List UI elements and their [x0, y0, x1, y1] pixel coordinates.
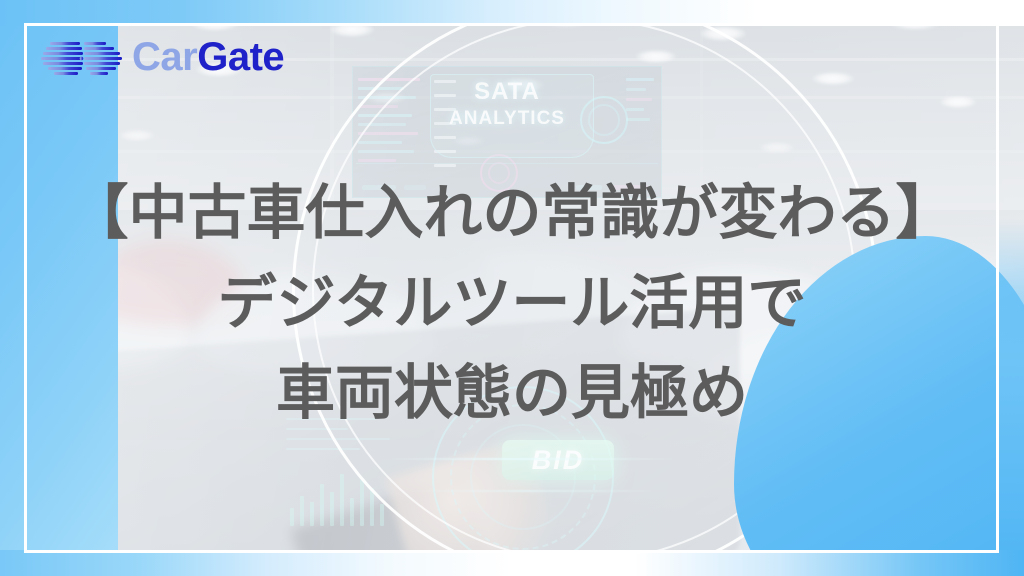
hud-title-primary: SATA — [352, 78, 662, 106]
brand-logo[interactable]: CarGate — [40, 30, 284, 84]
headline-line-1: 【中古車仕入れの常識が変わる】 — [0, 168, 1024, 258]
blue-bottom-gradient — [0, 550, 1024, 576]
banner-canvas: SATA ANALYTICS BID — [0, 0, 1024, 576]
blue-top-gradient — [0, 0, 1024, 26]
cargate-car-stripes-icon — [40, 34, 124, 80]
bid-button-label: BID — [532, 445, 585, 476]
hud-title-secondary: ANALYTICS — [352, 108, 662, 130]
brand-name-part-2: Gate — [197, 35, 284, 79]
headline-line-2: デジタルツール活用で — [0, 258, 1024, 348]
brand-logo-text: CarGate — [132, 37, 284, 77]
tablet-bar-chart — [290, 470, 400, 526]
bid-button[interactable]: BID — [502, 440, 614, 480]
brand-name-part-1: Car — [132, 35, 197, 79]
page-title: 【中古車仕入れの常識が変わる】 デジタルツール活用で 車両状態の見極め — [0, 168, 1024, 438]
headline-line-3: 車両状態の見極め — [0, 348, 1024, 438]
